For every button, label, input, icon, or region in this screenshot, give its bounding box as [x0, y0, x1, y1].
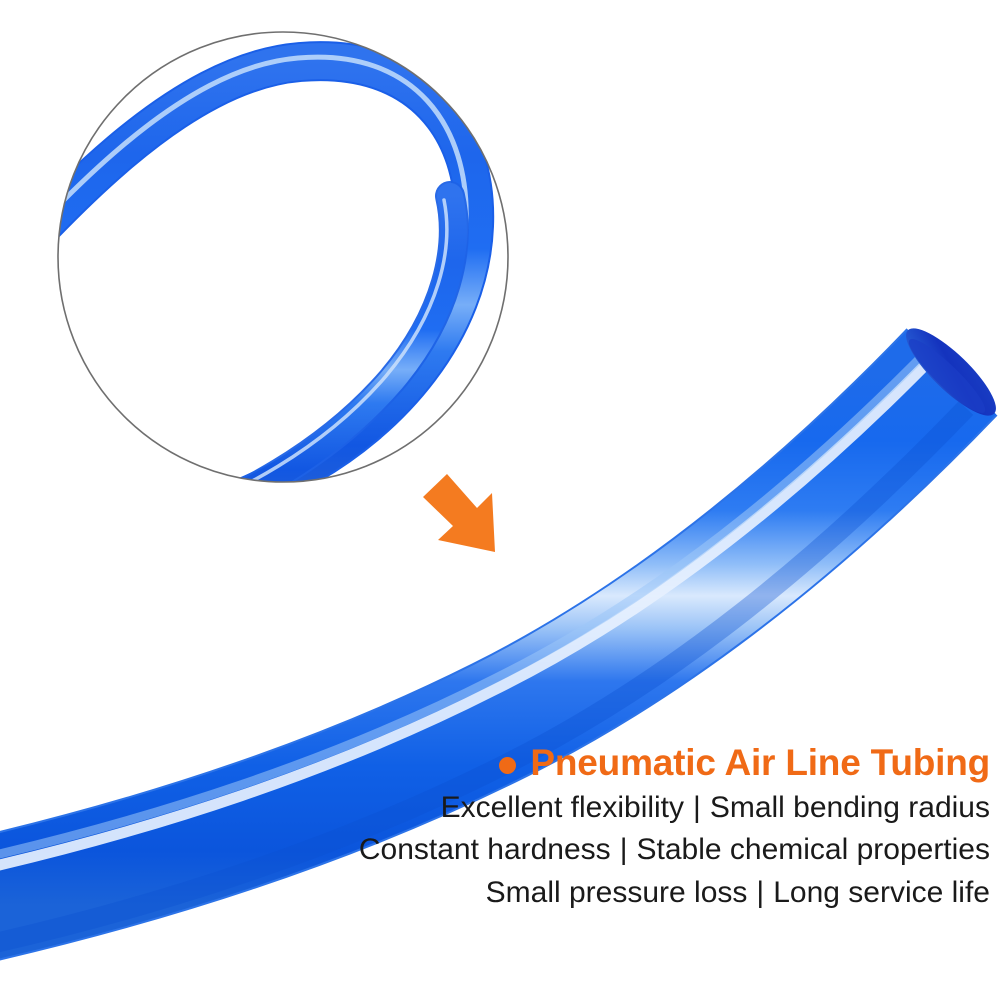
feature-left: Excellent flexibility — [441, 791, 684, 824]
feature-right: Long service life — [773, 876, 990, 909]
magnifier-content — [0, 57, 474, 530]
magnifier-group — [0, 32, 508, 530]
feature-line: Constant hardness|Stable chemical proper… — [300, 829, 990, 872]
feature-callout: Pneumatic Air Line Tubing Excellent flex… — [300, 744, 990, 915]
looped-tube — [0, 57, 474, 530]
feature-left: Small pressure loss — [486, 876, 748, 909]
product-image: Pneumatic Air Line Tubing Excellent flex… — [0, 0, 1000, 1000]
feature-line: Small pressure loss|Long service life — [300, 872, 990, 915]
feature-separator: | — [611, 829, 637, 872]
feature-separator: | — [684, 787, 710, 830]
feature-separator: | — [747, 872, 773, 915]
callout-arrow-icon — [423, 474, 495, 552]
bullet-dot-icon — [499, 757, 516, 774]
feature-left: Constant hardness — [359, 833, 611, 866]
feature-right: Stable chemical properties — [636, 833, 990, 866]
feature-right: Small bending radius — [710, 791, 990, 824]
page-title: Pneumatic Air Line Tubing — [530, 744, 990, 783]
feature-line: Excellent flexibility|Small bending radi… — [300, 787, 990, 830]
headline-row: Pneumatic Air Line Tubing — [300, 744, 990, 783]
